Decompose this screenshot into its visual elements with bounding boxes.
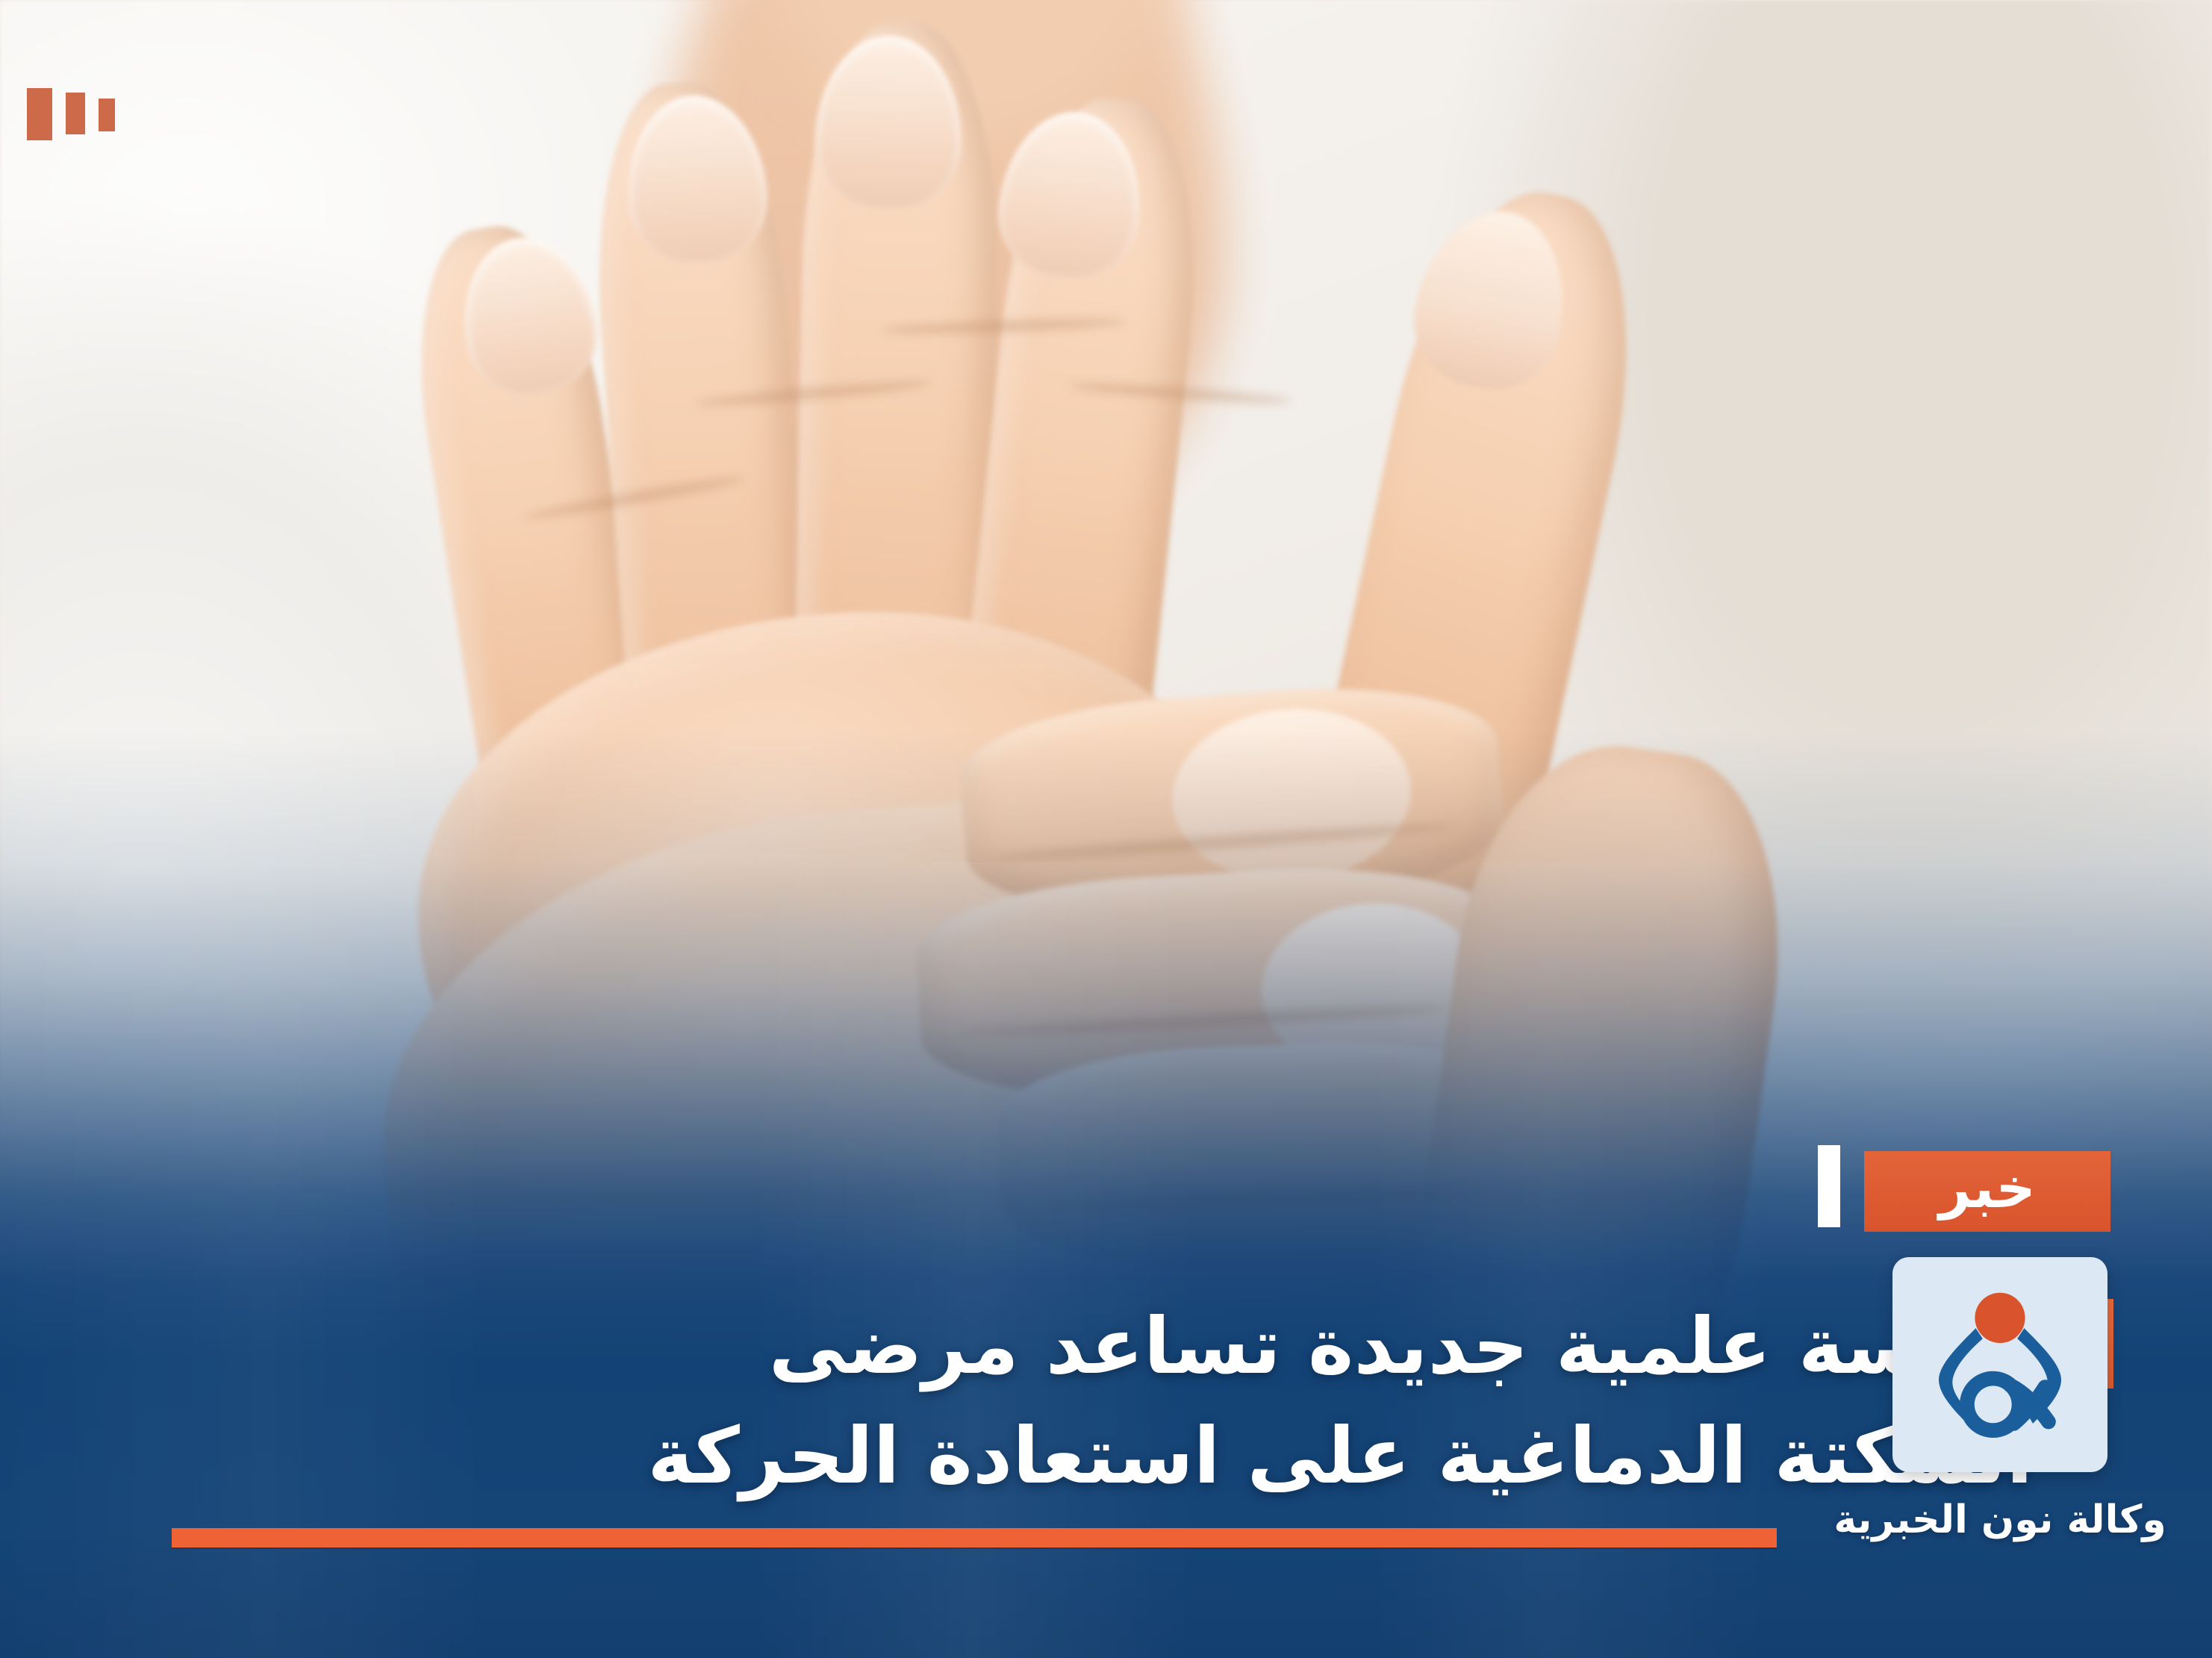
logo-head-circle — [1975, 1293, 2025, 1343]
news-card: دراسة علمية جديدة تساعد مرضى السكتة الدم… — [0, 0, 2212, 1658]
three-bars-icon — [27, 88, 115, 140]
bar-medium — [66, 93, 85, 134]
bar-tall — [27, 88, 52, 140]
agency-logo-tile — [1892, 1257, 2107, 1472]
brand-panel: خبر وكالة نون الخبرية — [1851, 1151, 2149, 1542]
agency-name: وكالة نون الخبرية — [1834, 1498, 2166, 1542]
headline-line-2: السكتة الدماغية على استعادة الحركة — [172, 1401, 2033, 1512]
bar-short — [99, 99, 115, 131]
news-badge: خبر — [1864, 1151, 2110, 1232]
headline-block: دراسة علمية جديدة تساعد مرضى السكتة الدم… — [172, 1291, 2033, 1512]
headline-line-1: دراسة علمية جديدة تساعد مرضى — [172, 1291, 2033, 1402]
news-badge-label: خبر — [1939, 1161, 2036, 1216]
noon-agency-logo-icon — [1913, 1278, 2087, 1451]
headline-underline — [172, 1528, 1777, 1548]
